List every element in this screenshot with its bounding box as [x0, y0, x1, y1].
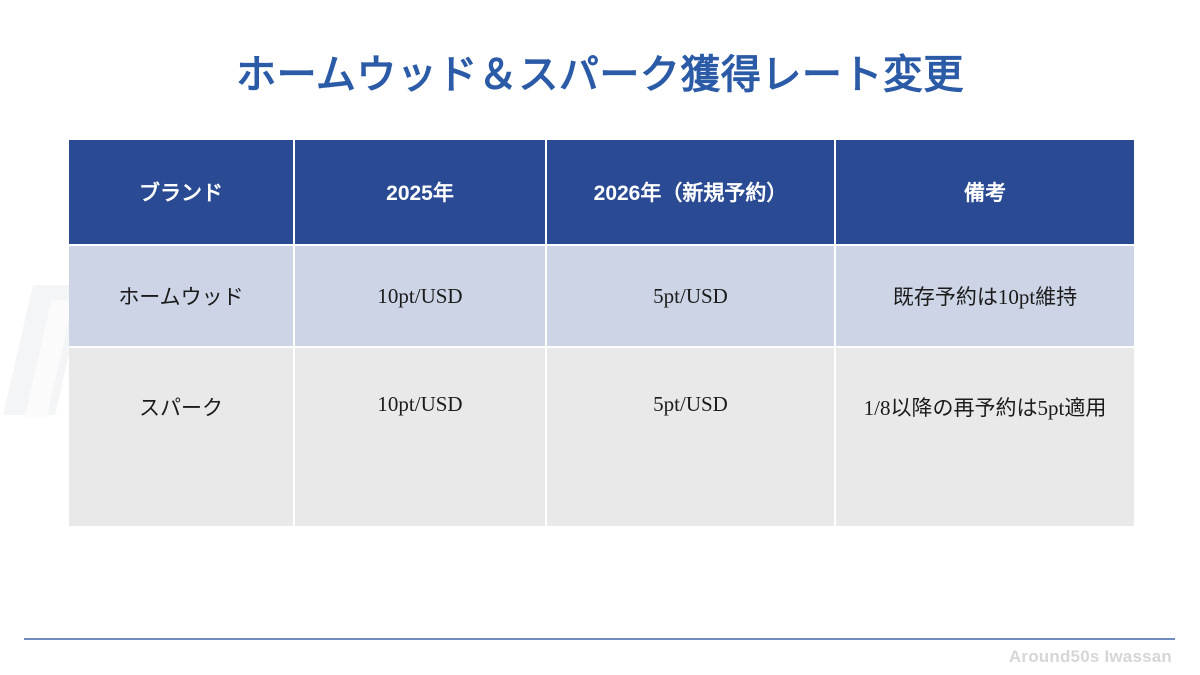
cell-rate-2026: 5pt/USD	[546, 245, 835, 347]
table-row: ホームウッド 10pt/USD 5pt/USD 既存予約は10pt維持	[69, 245, 1134, 347]
page-title: ホームウッド＆スパーク獲得レート変更	[0, 50, 1200, 100]
column-header-2025: 2025年	[294, 140, 546, 245]
cell-rate-2025: 10pt/USD	[294, 245, 546, 347]
footer-credit: Around50s Iwassan	[1009, 647, 1172, 667]
footer-divider	[24, 638, 1175, 640]
table-row: スパーク 10pt/USD 5pt/USD 1/8以降の再予約は5pt適用	[69, 347, 1134, 526]
column-header-2026: 2026年（新規予約）	[546, 140, 835, 245]
cell-brand: ホームウッド	[69, 245, 294, 347]
table-header-row: ブランド 2025年 2026年（新規予約） 備考	[69, 140, 1134, 245]
cell-note: 1/8以降の再予約は5pt適用	[835, 347, 1134, 526]
rate-change-table: ブランド 2025年 2026年（新規予約） 備考 ホームウッド 10pt/US…	[69, 140, 1134, 526]
column-header-brand: ブランド	[69, 140, 294, 245]
cell-rate-2025: 10pt/USD	[294, 347, 546, 526]
cell-rate-2026: 5pt/USD	[546, 347, 835, 526]
slide-canvas: ホームウッド＆スパーク獲得レート変更 ブランド 2025年 2026年（新規予約…	[0, 0, 1200, 675]
background-watermark-shape-inner	[24, 300, 73, 418]
column-header-note: 備考	[835, 140, 1134, 245]
cell-note: 既存予約は10pt維持	[835, 245, 1134, 347]
cell-brand: スパーク	[69, 347, 294, 526]
